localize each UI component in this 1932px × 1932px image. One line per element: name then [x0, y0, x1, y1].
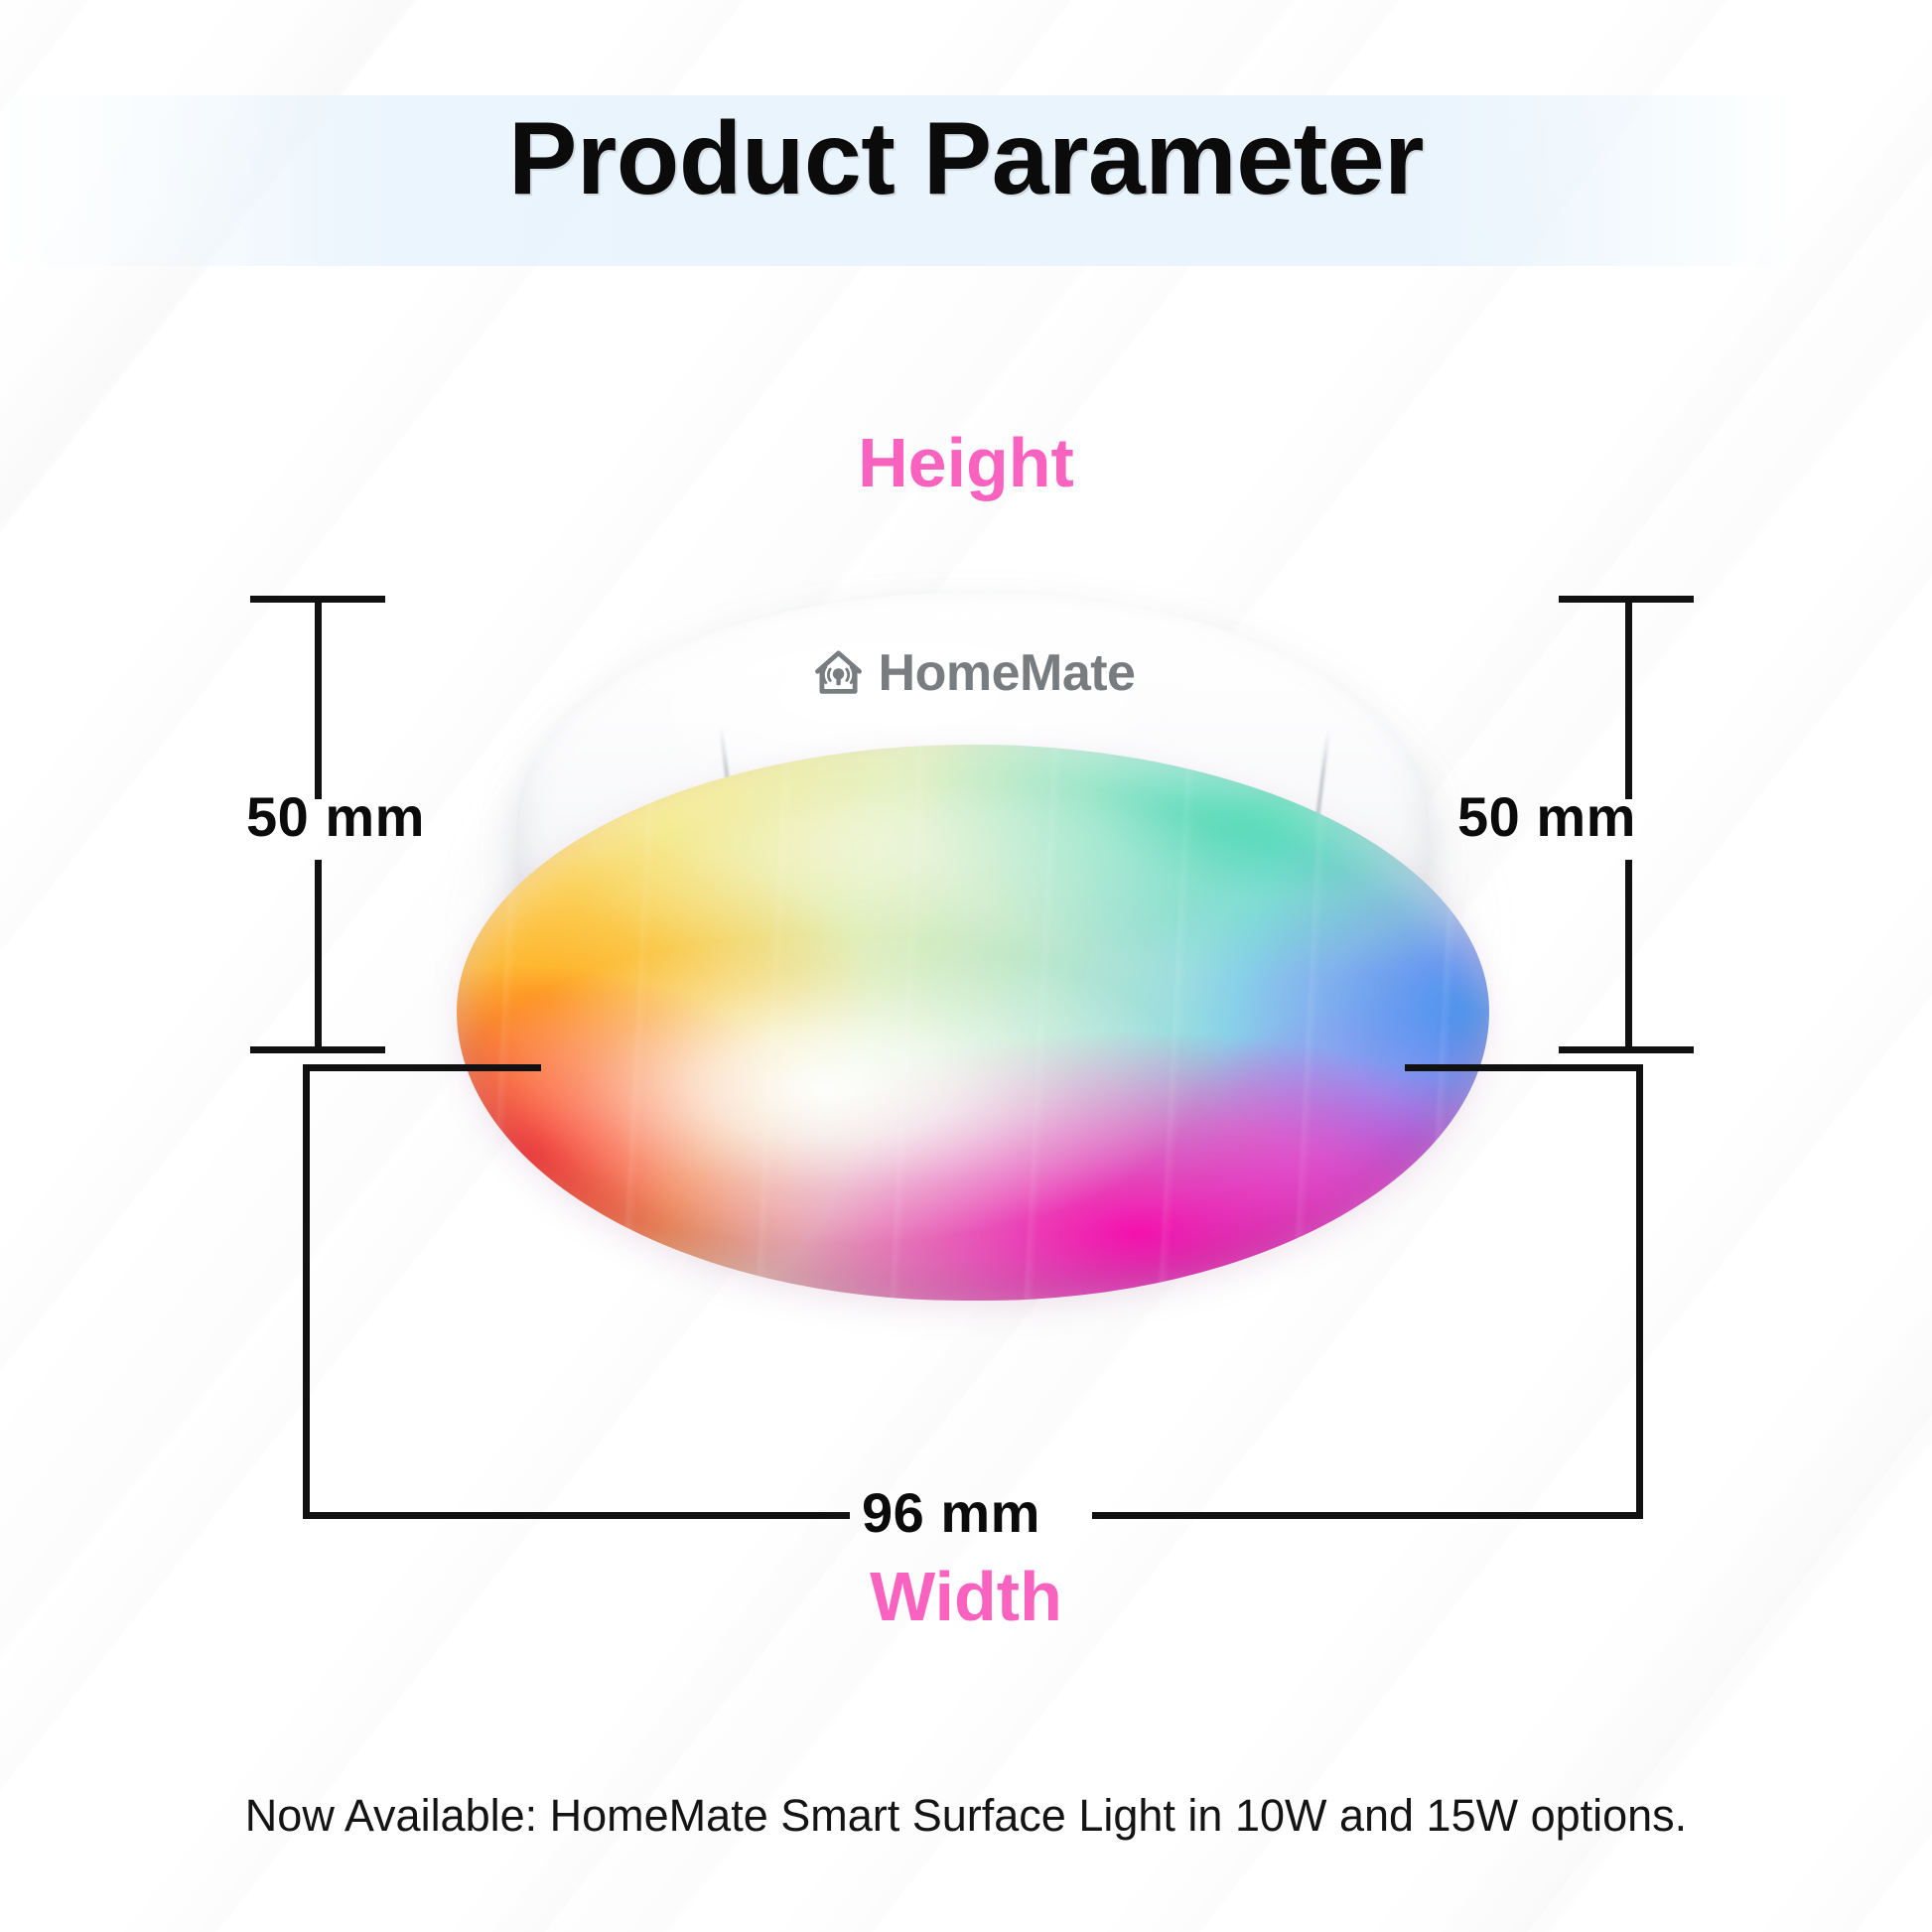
product-rgb-lens — [457, 745, 1489, 1301]
product-image: HomeMate — [457, 586, 1489, 1311]
width-bracket-bottom-right-segment — [1092, 1512, 1643, 1519]
availability-caption: Now Available: HomeMate Smart Surface Li… — [0, 1789, 1932, 1843]
homemate-logo-text: HomeMate — [879, 647, 1136, 699]
height-right-line-upper — [1625, 596, 1632, 799]
house-wifi-bulb-icon — [811, 645, 867, 701]
width-bracket-left-leg — [303, 1064, 310, 1519]
height-left-line-lower — [315, 860, 322, 1052]
width-label: Width — [0, 1562, 1932, 1631]
homemate-logo: HomeMate — [811, 645, 1136, 701]
height-left-value: 50 mm — [246, 789, 425, 845]
width-bracket-top-right-stub — [1405, 1064, 1643, 1071]
height-label: Height — [0, 428, 1932, 497]
height-right-bottom-tick — [1559, 1046, 1694, 1053]
page-title: Product Parameter — [0, 107, 1932, 210]
height-left-line-upper — [315, 596, 322, 799]
product-parameter-infographic: Product Parameter Height 50 mm 50 mm — [0, 0, 1932, 1932]
width-bracket-bottom-left-segment — [303, 1512, 850, 1519]
height-left-bottom-tick — [250, 1046, 385, 1053]
width-bracket-right-leg — [1636, 1064, 1643, 1519]
lens-reflection-streaks — [457, 745, 1489, 1301]
width-bracket-top-left-stub — [303, 1064, 541, 1071]
height-right-line-lower — [1625, 860, 1632, 1052]
lens-gloss-highlight — [576, 772, 1211, 961]
width-value: 96 mm — [862, 1485, 1040, 1541]
